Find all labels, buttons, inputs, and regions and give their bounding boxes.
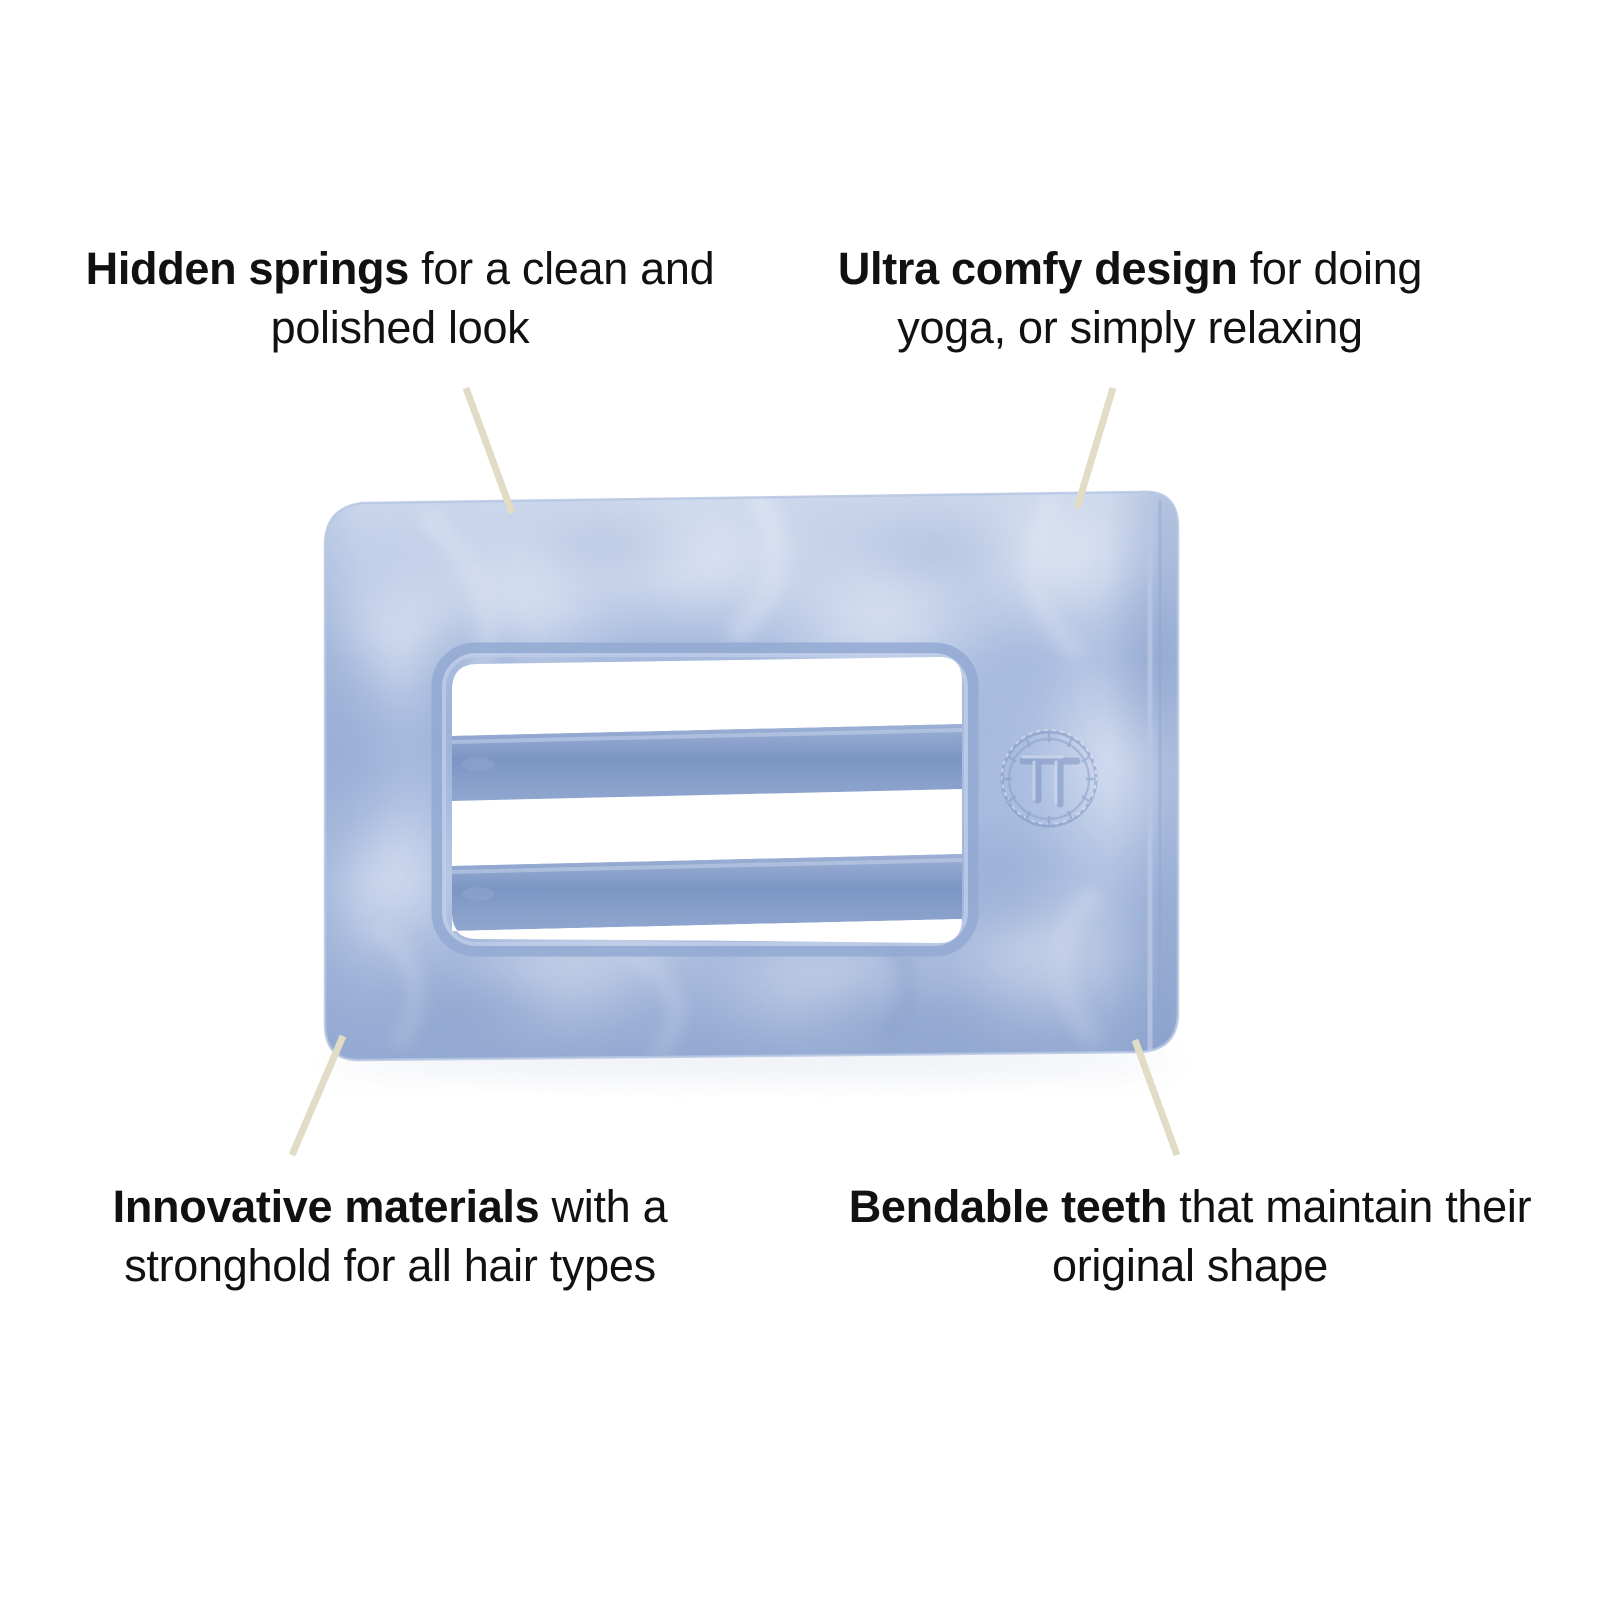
hidden-spring-nub-1 xyxy=(462,757,494,771)
callout-bottom-left-lead: Innovative materials xyxy=(113,1181,540,1232)
clip-body xyxy=(295,470,1215,1090)
callout-top-right: Ultra comfy design for doing yoga, or si… xyxy=(790,240,1470,357)
teeth-cutout-window xyxy=(437,648,973,951)
callout-top-right-lead: Ultra comfy design xyxy=(838,243,1238,294)
product-feature-infographic: Hidden springs for a clean and polished … xyxy=(0,0,1600,1600)
callout-bottom-right: Bendable teeth that maintain their origi… xyxy=(840,1178,1540,1295)
hidden-spring-nub-2 xyxy=(462,887,494,901)
callout-top-left-lead: Hidden springs xyxy=(86,243,409,294)
callout-top-left: Hidden springs for a clean and polished … xyxy=(70,240,730,357)
callout-bottom-left: Innovative materials with a stronghold f… xyxy=(50,1178,730,1295)
teeth-slot-2 xyxy=(452,789,962,866)
teeth-slot-1 xyxy=(452,657,962,736)
callout-bottom-right-lead: Bendable teeth xyxy=(849,1181,1167,1232)
